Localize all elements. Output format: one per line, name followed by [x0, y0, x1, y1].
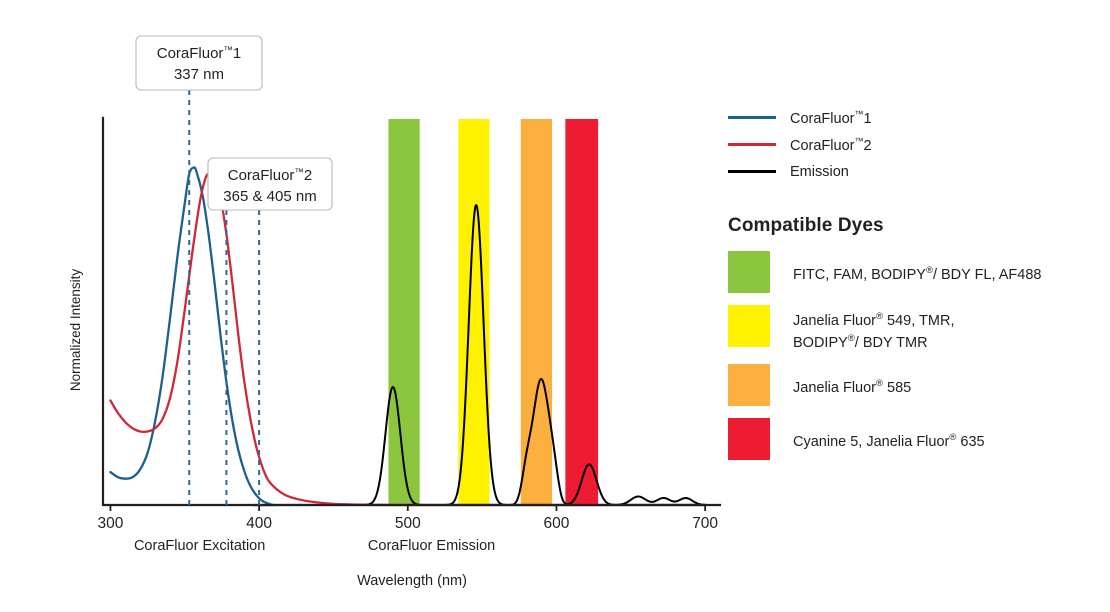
- dye-orange-label: Janelia Fluor® 585: [793, 364, 911, 397]
- x-tick-label-600: 600: [544, 515, 570, 532]
- dye-green-label: FITC, FAM, BODIPY®/ BDY FL, AF488: [793, 251, 1041, 284]
- legend-corafluor-1-line-swatch: [728, 116, 776, 119]
- orange-band: [521, 119, 552, 505]
- legend-corafluor-2-label: CoraFluor™2: [790, 136, 872, 154]
- axis-group-label-1: CoraFluor Emission: [368, 538, 495, 554]
- y-axis-title: Normalized Intensity: [68, 269, 83, 392]
- compatible-dyes-list: FITC, FAM, BODIPY®/ BDY FL, AF488Janelia…: [728, 251, 1098, 460]
- x-tick-label-700: 700: [692, 515, 718, 532]
- x-tick-label-300: 300: [97, 515, 123, 532]
- legend-corafluor-2: CoraFluor™2: [728, 131, 1098, 158]
- dye-orange-row: Janelia Fluor® 585: [728, 364, 1098, 406]
- trademark-symbol: ™: [854, 109, 863, 119]
- dye-yellow-label: Janelia Fluor® 549, TMR,BODIPY®/ BDY TMR: [793, 305, 954, 352]
- registered-symbol: ®: [848, 333, 855, 344]
- axis-group-label-0: CoraFluor Excitation: [134, 538, 265, 554]
- x-axis-title: Wavelength (nm): [357, 573, 467, 589]
- legend-emission: Emission: [728, 158, 1098, 185]
- dye-red-swatch: [728, 418, 770, 460]
- green-band: [388, 119, 419, 505]
- dye-yellow-swatch: [728, 305, 770, 347]
- series-legend: CoraFluor™1CoraFluor™2Emission: [728, 104, 1098, 185]
- registered-symbol: ®: [876, 311, 883, 322]
- dye-green-swatch: [728, 251, 770, 293]
- dye-red-row: Cyanine 5, Janelia Fluor® 635: [728, 418, 1098, 460]
- x-tick-label-500: 500: [395, 515, 421, 532]
- registered-symbol: ®: [949, 432, 956, 443]
- dye-yellow-row: Janelia Fluor® 549, TMR,BODIPY®/ BDY TMR: [728, 305, 1098, 352]
- legend-corafluor-1: CoraFluor™1: [728, 104, 1098, 131]
- x-tick-label-400: 400: [246, 515, 272, 532]
- dye-orange-swatch: [728, 364, 770, 406]
- legend-corafluor-2-line-swatch: [728, 143, 776, 146]
- compatible-dyes-title: Compatible Dyes: [728, 215, 1098, 237]
- corafluor2-callout-line2: 365 & 405 nm: [223, 188, 316, 205]
- dye-red-label: Cyanine 5, Janelia Fluor® 635: [793, 418, 985, 451]
- registered-symbol: ®: [926, 265, 933, 276]
- spectra-figure: 300400500600700CoraFluor ExcitationCoraF…: [0, 0, 1110, 612]
- legend-and-dyes-panel: CoraFluor™1CoraFluor™2Emission Compatibl…: [728, 104, 1098, 472]
- legend-corafluor-1-label: CoraFluor™1: [790, 109, 872, 127]
- red-band: [565, 119, 598, 505]
- wavelength-bands: [388, 119, 598, 505]
- dye-green-row: FITC, FAM, BODIPY®/ BDY FL, AF488: [728, 251, 1098, 293]
- legend-emission-line-swatch: [728, 170, 776, 173]
- corafluor1-callout-line2: 337 nm: [174, 66, 224, 83]
- legend-emission-label: Emission: [790, 164, 849, 180]
- registered-symbol: ®: [876, 378, 883, 389]
- trademark-symbol: ™: [854, 136, 863, 146]
